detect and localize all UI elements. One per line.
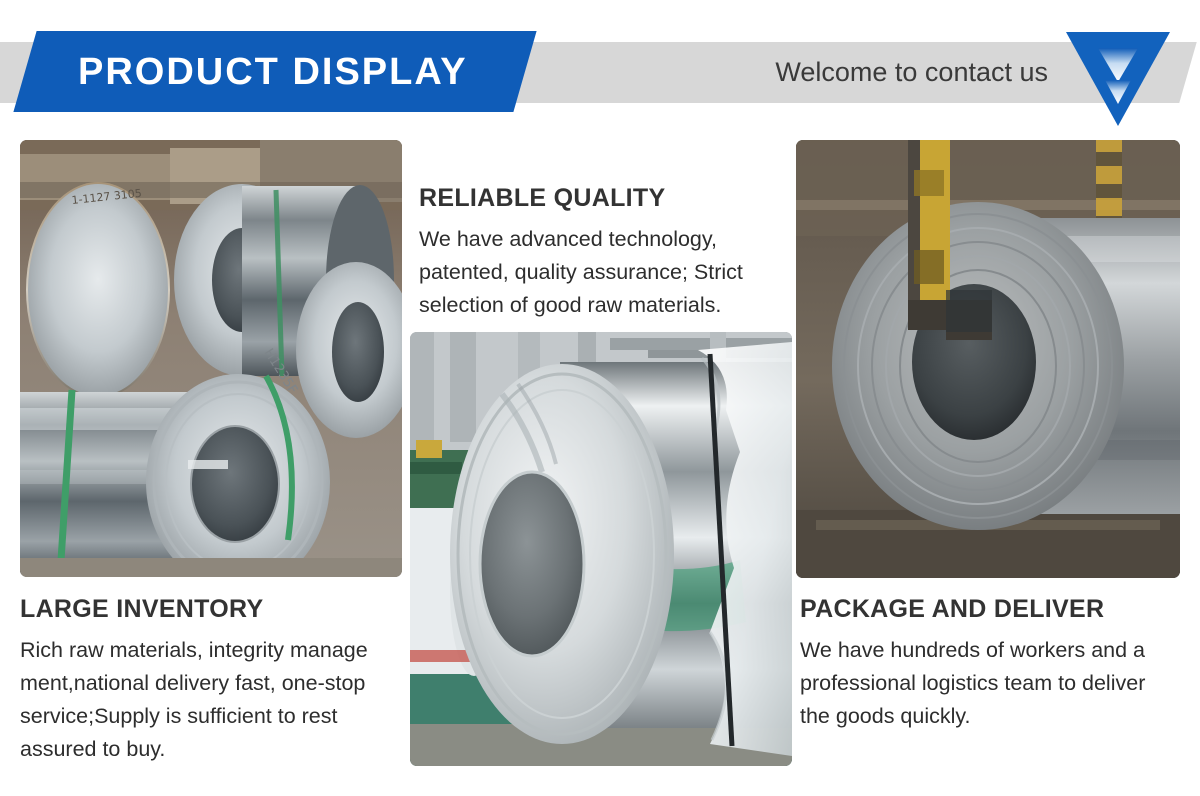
header-tagline: Welcome to contact us — [775, 48, 1048, 96]
steel-coil-wrapped-in-factory-photo — [410, 332, 792, 766]
feature-title-large-inventory: LARGE INVENTORY — [20, 595, 263, 624]
feature-body-package-and-deliver: We have hundreds of workers and a profes… — [800, 634, 1180, 733]
feature-body-reliable-quality: We have advanced technology, patented, q… — [419, 223, 779, 322]
page-header-banner: PRODUCT DISPLAY Welcome to contact us — [0, 0, 1200, 130]
feature-title-reliable-quality: RELIABLE QUALITY — [419, 184, 665, 213]
triangle-chevron-logo-icon — [1064, 30, 1172, 128]
steel-coil-on-yellow-c-hook-photo — [796, 140, 1180, 578]
steel-coils-warehouse-stack-photo: 1-1127 3105 H1235F — [20, 140, 402, 577]
page-title: PRODUCT DISPLAY — [78, 44, 498, 100]
feature-title-package-and-deliver: PACKAGE AND DELIVER — [800, 595, 1104, 624]
feature-body-large-inventory: Rich raw materials, integrity manage men… — [20, 634, 392, 766]
